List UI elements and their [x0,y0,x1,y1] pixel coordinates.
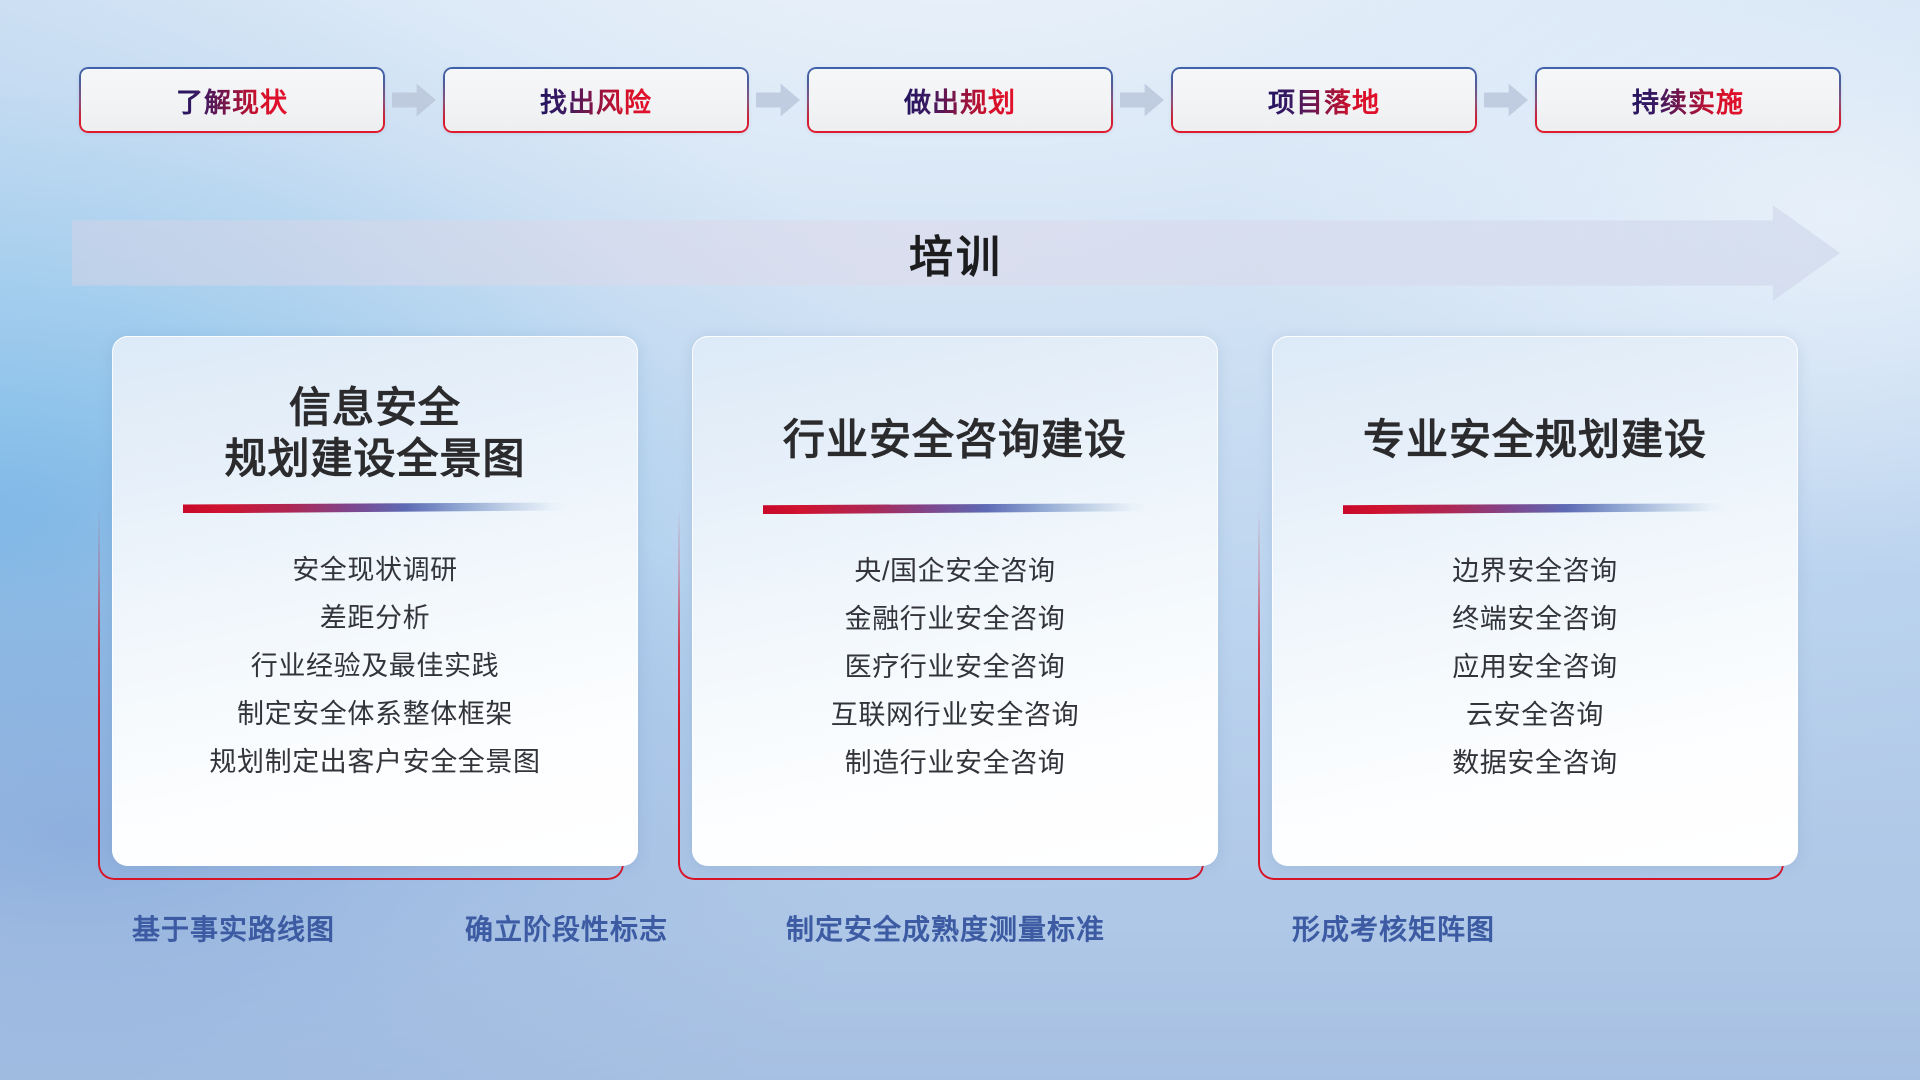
list-item: 应用安全咨询 [1290,644,1780,692]
card-1-title: 信息安全 规划建设全景图 [224,382,525,484]
step-arrow-right-icon-3 [1113,77,1171,123]
list-item: 医疗行业安全咨询 [710,644,1200,692]
card-1[interactable]: 信息安全 规划建设全景图 安全现状调研 差距分析 行业经验及最佳实践 制定安全体… [112,336,638,866]
card-3-title: 专业安全规划建设 [1363,414,1707,465]
list-item: 制造行业安全咨询 [710,740,1200,788]
list-item: 云安全咨询 [1290,692,1780,740]
card-2-list: 央/国企安全咨询 金融行业安全咨询 医疗行业安全咨询 互联网行业安全咨询 制造行… [692,548,1218,788]
step-label-2: 找出风险 [540,81,652,120]
list-item: 终端安全咨询 [1290,596,1780,644]
list-item: 安全现状调研 [130,547,620,595]
card-2-surface: 行业安全咨询建设 央/国企安全咨询 金融行业安全咨询 医疗行业安全咨询 互联网行… [692,336,1218,866]
card-3[interactable]: 专业安全规划建设 边界安全咨询 终端安全咨询 应用安全咨询 云安全咨询 数据安全… [1272,336,1798,866]
list-item: 差距分析 [130,595,620,643]
caption-3: 制定安全成熟度测量标准 [786,908,1105,952]
list-item: 制定安全体系整体框架 [130,691,620,739]
step-label-1: 了解现状 [176,81,288,120]
step-label-5: 持续实施 [1632,81,1744,120]
card-2-head: 行业安全咨询建设 [692,336,1218,465]
caption-1: 基于事实路线图 [132,908,335,952]
card-3-list: 边界安全咨询 终端安全咨询 应用安全咨询 云安全咨询 数据安全咨询 [1272,548,1798,788]
card-1-surface: 信息安全 规划建设全景图 安全现状调研 差距分析 行业经验及最佳实践 制定安全体… [112,336,638,866]
list-item: 边界安全咨询 [1290,548,1780,596]
card-1-head: 信息安全 规划建设全景图 [112,336,638,484]
card-2-divider [763,503,1147,514]
caption-2: 确立阶段性标志 [465,908,668,952]
captions-row: 基于事实路线图 确立阶段性标志 制定安全成熟度测量标准 形成考核矩阵图 [0,908,1920,962]
step-pill-4[interactable]: 项目落地 [1171,67,1477,133]
step-label-4: 项目落地 [1268,81,1380,120]
card-2[interactable]: 行业安全咨询建设 央/国企安全咨询 金融行业安全咨询 医疗行业安全咨询 互联网行… [692,336,1218,866]
card-1-divider [183,502,567,513]
list-item: 金融行业安全咨询 [710,596,1200,644]
list-item: 数据安全咨询 [1290,740,1780,788]
step-pill-2[interactable]: 找出风险 [443,67,749,133]
step-pill-1[interactable]: 了解现状 [79,67,385,133]
step-arrow-right-icon-4 [1477,77,1535,123]
list-item: 行业经验及最佳实践 [130,643,620,691]
card-1-list: 安全现状调研 差距分析 行业经验及最佳实践 制定安全体系整体框架 规划制定出客户… [112,547,638,787]
training-banner: 培训 [72,205,1840,301]
process-steps: 了解现状 找出风险 做出规划 项目落地 持续实施 [0,64,1920,136]
banner-label: 培训 [72,205,1840,301]
step-arrow-right-icon-2 [749,77,807,123]
card-3-divider [1343,503,1727,514]
list-item: 互联网行业安全咨询 [710,692,1200,740]
card-3-head: 专业安全规划建设 [1272,336,1798,465]
list-item: 央/国企安全咨询 [710,548,1200,596]
card-2-title: 行业安全咨询建设 [783,414,1127,465]
cards-row: 信息安全 规划建设全景图 安全现状调研 差距分析 行业经验及最佳实践 制定安全体… [0,336,1920,866]
step-arrow-right-icon-1 [385,77,443,123]
step-pill-5[interactable]: 持续实施 [1535,67,1841,133]
card-3-surface: 专业安全规划建设 边界安全咨询 终端安全咨询 应用安全咨询 云安全咨询 数据安全… [1272,336,1798,866]
caption-4: 形成考核矩阵图 [1292,908,1495,952]
step-pill-3[interactable]: 做出规划 [807,67,1113,133]
step-label-3: 做出规划 [904,81,1016,120]
list-item: 规划制定出客户安全全景图 [130,739,620,787]
